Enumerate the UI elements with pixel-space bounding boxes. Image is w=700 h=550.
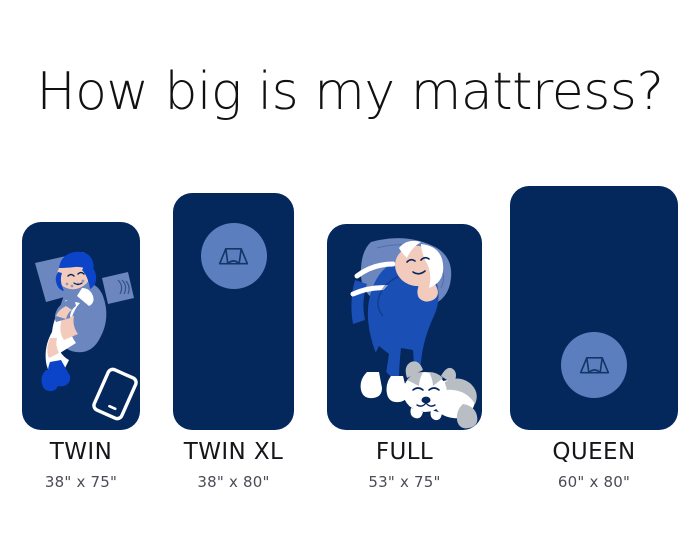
illustration-sleeping-person-with-dog (327, 224, 482, 430)
mattress-label-block-full: FULL53" x 75" (327, 441, 482, 490)
mattress-label-block-twin-xl: TWIN XL38" x 80" (173, 441, 294, 490)
dog (403, 361, 477, 428)
mattress-cell-twin[interactable]: TWIN38" x 75" (22, 0, 140, 550)
mattress-surface-full[interactable] (327, 224, 482, 430)
mattress-cell-twin-xl[interactable]: TWIN XL38" x 80" (173, 0, 294, 550)
illustration-sleeping-person-with-phone (22, 222, 140, 430)
pillow-small (102, 272, 134, 304)
mattress-size-infographic: How big is my mattress? (0, 0, 700, 550)
mattress-size-name-twin: TWIN (22, 441, 140, 464)
mattress-dimensions-twin: 38" x 75" (22, 475, 140, 490)
mattress-label-block-queen: QUEEN60" x 80" (510, 441, 678, 490)
mattress-cell-full[interactable]: FULL53" x 75" (327, 0, 482, 550)
tent-bed-icon (213, 236, 254, 277)
mattress-dimensions-queen: 60" x 80" (510, 475, 678, 490)
tent-bed-icon (574, 345, 615, 386)
mattress-cell-queen[interactable]: QUEEN60" x 80" (510, 0, 678, 550)
mattress-dimensions-twin-xl: 38" x 80" (173, 475, 294, 490)
mattress-comparison-row: TWIN38" x 75" TWIN XL38" x 80" (0, 0, 700, 550)
phone-device (92, 368, 137, 420)
mattress-size-name-queen: QUEEN (510, 441, 678, 464)
mattress-surface-twin[interactable] (22, 222, 140, 430)
mattress-label-block-twin: TWIN38" x 75" (22, 441, 140, 490)
empty-bed-badge-queen (561, 332, 627, 398)
mattress-surface-queen[interactable] (510, 186, 678, 430)
mattress-size-name-full: FULL (327, 441, 482, 464)
mattress-size-name-twin-xl: TWIN XL (173, 441, 294, 464)
empty-bed-badge-twin-xl (201, 223, 267, 289)
mattress-dimensions-full: 53" x 75" (327, 475, 482, 490)
mattress-surface-twin-xl[interactable] (173, 193, 294, 430)
